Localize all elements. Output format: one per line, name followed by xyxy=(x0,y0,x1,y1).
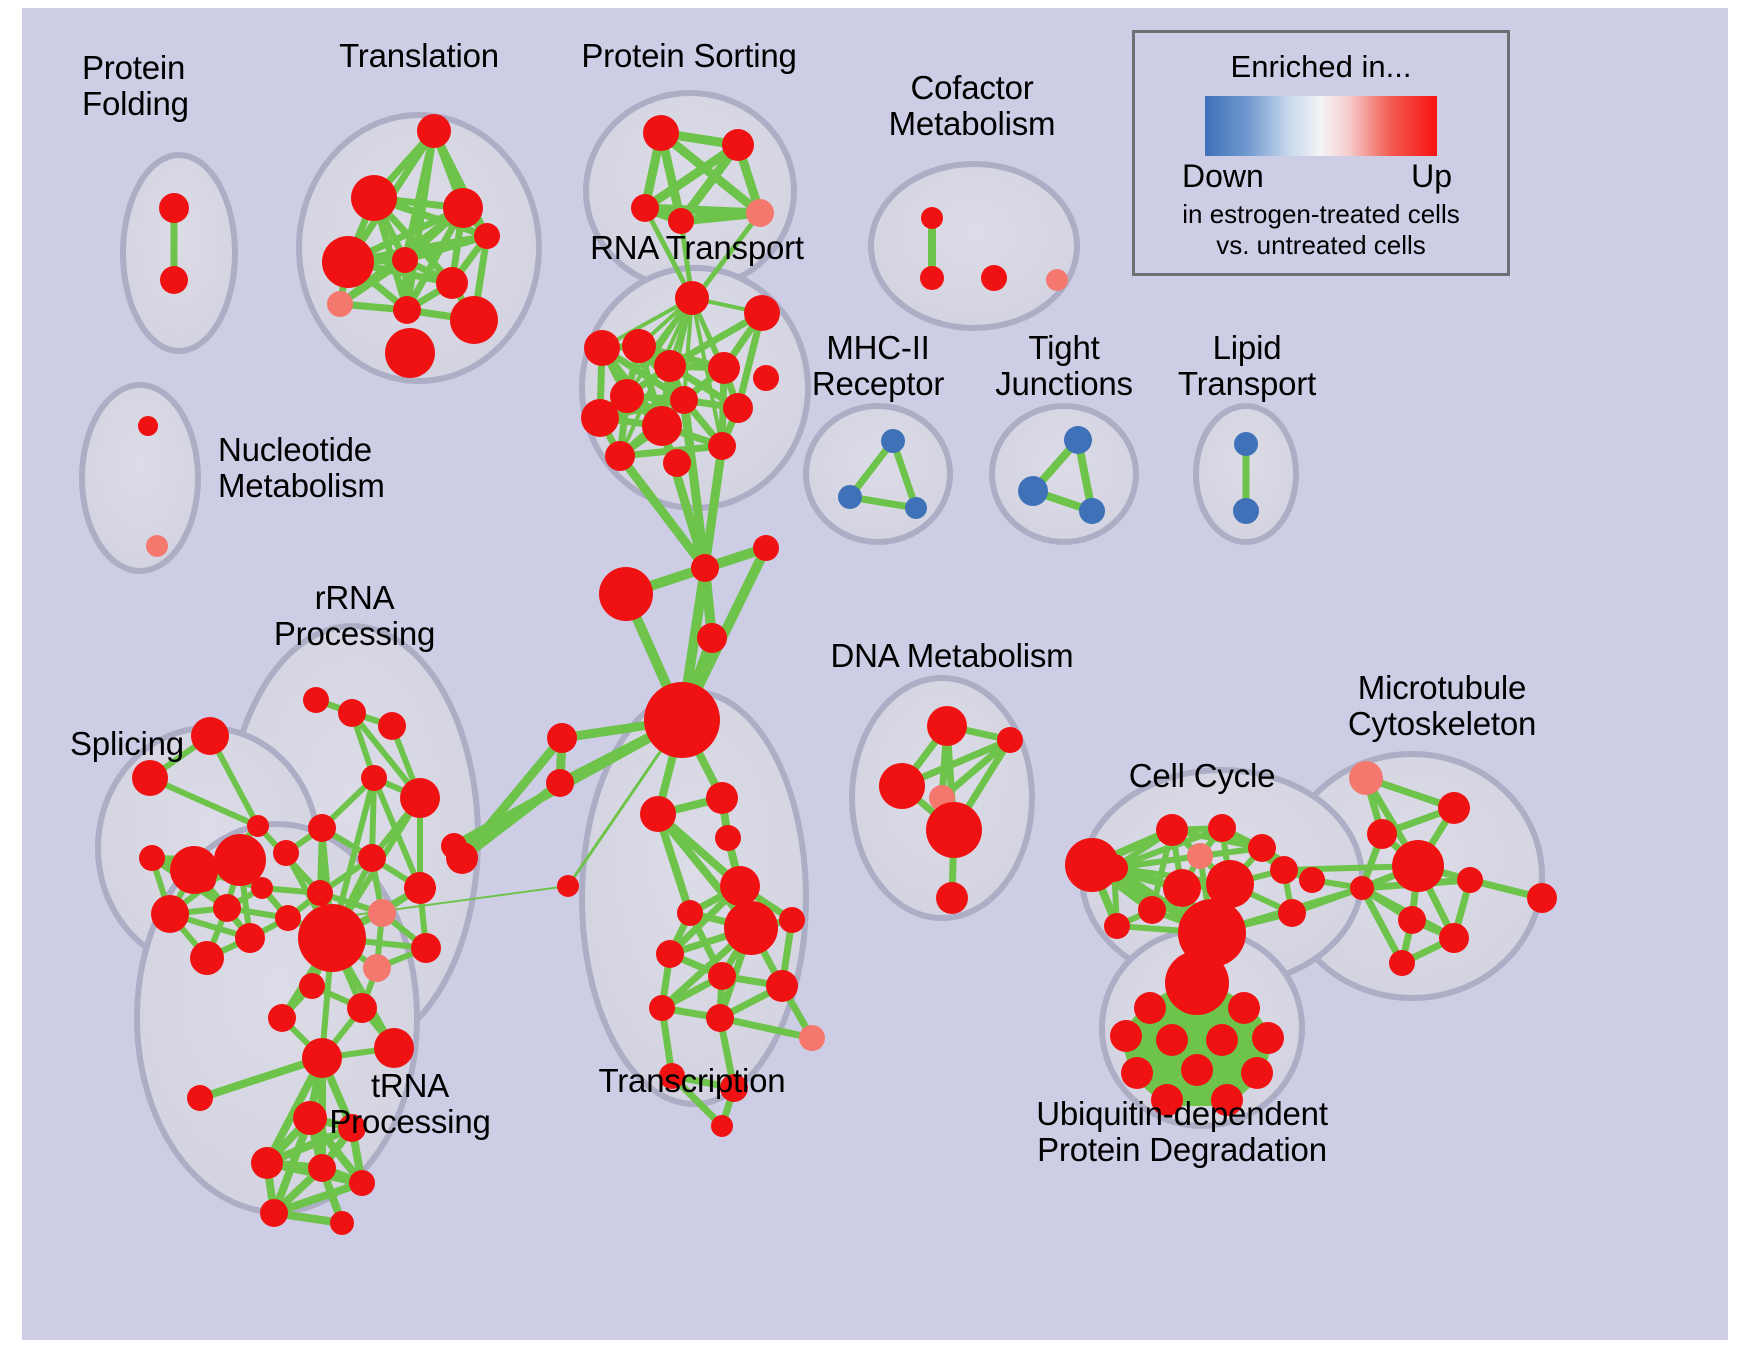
node xyxy=(385,328,435,378)
node xyxy=(1046,269,1068,291)
figure-root: ProteinFolding Translation Protein Sorti… xyxy=(0,0,1750,1360)
node xyxy=(1392,840,1444,892)
node xyxy=(557,875,579,897)
cluster-label-protein-sorting: Protein Sorting xyxy=(509,38,869,74)
node xyxy=(443,188,483,228)
node xyxy=(1104,913,1130,939)
node xyxy=(1367,819,1397,849)
node xyxy=(251,1147,283,1179)
cluster-blob-protein-folding xyxy=(123,155,235,351)
node xyxy=(644,682,720,758)
cluster-blob-cofactor xyxy=(871,164,1077,328)
node xyxy=(643,115,679,151)
node xyxy=(546,769,574,797)
cluster-label-cofactor-metabolism: CofactorMetabolism xyxy=(822,70,1122,141)
node xyxy=(1187,843,1213,869)
legend-color-gradient-bar xyxy=(1205,96,1437,156)
cluster-label-translation: Translation xyxy=(294,38,544,74)
node xyxy=(640,796,676,832)
cluster-label-transcription: Transcription xyxy=(562,1063,822,1099)
node xyxy=(213,894,241,922)
node xyxy=(1110,1020,1142,1052)
node xyxy=(1208,814,1236,842)
node xyxy=(1121,1057,1153,1089)
node xyxy=(374,1028,414,1068)
node xyxy=(631,194,659,222)
node xyxy=(927,706,967,746)
node xyxy=(753,365,779,391)
node xyxy=(1181,1054,1213,1086)
legend-panel: Enriched in... Down Up in estrogen-treat… xyxy=(1132,30,1510,276)
node xyxy=(779,907,805,933)
node xyxy=(642,406,682,446)
node xyxy=(338,699,366,727)
node xyxy=(1457,867,1483,893)
node xyxy=(605,441,635,471)
node xyxy=(260,1199,288,1227)
node xyxy=(1165,951,1229,1015)
node xyxy=(921,207,943,229)
node xyxy=(268,1004,296,1032)
node xyxy=(663,449,691,477)
cluster-label-cell-cycle: Cell Cycle xyxy=(1102,758,1302,794)
node xyxy=(584,330,620,366)
node xyxy=(378,712,406,740)
cluster-label-dna-metabolism: DNA Metabolism xyxy=(812,638,1092,674)
node xyxy=(1252,1022,1284,1054)
node xyxy=(936,882,968,914)
node xyxy=(192,868,216,892)
node xyxy=(879,763,925,809)
network-canvas: ProteinFolding Translation Protein Sorti… xyxy=(22,8,1728,1340)
node xyxy=(881,429,905,453)
node xyxy=(1134,992,1166,1024)
node xyxy=(753,535,779,561)
node xyxy=(139,845,165,871)
node xyxy=(400,778,440,818)
node xyxy=(190,941,224,975)
node xyxy=(720,866,760,906)
node xyxy=(138,416,158,436)
node xyxy=(547,723,577,753)
node xyxy=(1398,906,1426,934)
node xyxy=(838,485,862,509)
node xyxy=(649,995,675,1021)
node xyxy=(997,727,1023,753)
node xyxy=(656,940,684,968)
cluster-label-nucleotide-metabolism: NucleotideMetabolism xyxy=(218,432,385,503)
node xyxy=(361,765,387,791)
node xyxy=(191,717,229,755)
node xyxy=(404,872,436,904)
node xyxy=(159,193,189,223)
node xyxy=(308,1154,336,1182)
node xyxy=(436,267,468,299)
node xyxy=(1241,1057,1273,1089)
node xyxy=(920,266,944,290)
cluster-label-ubiquitin: Ubiquitin-dependentProtein Degradation xyxy=(982,1096,1382,1167)
node xyxy=(160,266,188,294)
node xyxy=(675,281,709,315)
node xyxy=(450,296,498,344)
node xyxy=(411,933,441,963)
node xyxy=(722,129,754,161)
cluster-label-protein-folding: ProteinFolding xyxy=(82,50,189,121)
node xyxy=(697,623,727,653)
node xyxy=(1248,834,1276,862)
node xyxy=(1527,883,1557,913)
cluster-label-rna-transport: RNA Transport xyxy=(542,230,852,266)
legend-subtitle-line2: vs. untreated cells xyxy=(1135,231,1507,260)
node xyxy=(746,199,774,227)
node xyxy=(1100,854,1128,882)
legend-subtitle-line1: in estrogen-treated cells xyxy=(1135,200,1507,229)
node xyxy=(1206,1024,1238,1056)
legend-title: Enriched in... xyxy=(1135,49,1507,85)
node xyxy=(1018,476,1048,506)
node xyxy=(599,567,653,621)
node xyxy=(1138,896,1166,924)
node xyxy=(1299,867,1325,893)
node xyxy=(622,329,656,363)
node xyxy=(275,905,301,931)
node xyxy=(708,962,736,990)
node xyxy=(1270,856,1298,884)
node xyxy=(299,973,325,999)
node xyxy=(327,291,353,317)
node xyxy=(247,815,269,837)
node xyxy=(724,901,778,955)
node xyxy=(1389,950,1415,976)
node xyxy=(1439,923,1469,953)
node xyxy=(1156,814,1188,846)
node xyxy=(417,114,451,148)
node xyxy=(581,399,619,437)
cluster-blob-mhc xyxy=(806,406,950,542)
node xyxy=(368,899,396,927)
node xyxy=(677,900,703,926)
node xyxy=(706,1004,734,1032)
cluster-blob-tight-junctions xyxy=(992,406,1136,542)
node xyxy=(670,386,698,414)
node xyxy=(708,352,740,384)
legend-up-label: Up xyxy=(1411,158,1452,195)
cluster-label-tight-junctions: TightJunctions xyxy=(964,330,1164,401)
node xyxy=(1349,761,1383,795)
cluster-label-microtubule: MicrotubuleCytoskeleton xyxy=(1292,670,1592,741)
cluster-label-lipid-transport: LipidTransport xyxy=(1152,330,1342,401)
node xyxy=(1064,426,1092,454)
node xyxy=(1079,498,1105,524)
node xyxy=(981,265,1007,291)
node xyxy=(349,1170,375,1196)
node xyxy=(706,782,738,814)
node xyxy=(363,954,391,982)
node xyxy=(235,923,265,953)
cluster-label-splicing: Splicing xyxy=(70,726,184,762)
node xyxy=(1278,899,1306,927)
node xyxy=(708,432,736,460)
node xyxy=(273,840,299,866)
cluster-label-trna-processing: tRNAProcessing xyxy=(300,1068,520,1139)
node xyxy=(1350,876,1374,900)
node xyxy=(474,223,500,249)
node xyxy=(251,877,273,899)
node xyxy=(351,175,397,221)
node xyxy=(146,535,168,557)
node xyxy=(322,236,374,288)
node xyxy=(744,295,780,331)
node xyxy=(691,554,719,582)
node xyxy=(393,296,421,324)
node xyxy=(799,1025,825,1051)
node xyxy=(441,833,467,859)
node xyxy=(715,825,741,851)
node xyxy=(711,1115,733,1137)
node xyxy=(1438,792,1470,824)
cluster-label-mhc-ii-receptor: MHC-IIReceptor xyxy=(778,330,978,401)
node xyxy=(132,760,168,796)
node xyxy=(1163,869,1201,907)
node xyxy=(905,497,927,519)
node xyxy=(330,1211,354,1235)
node xyxy=(1234,432,1258,456)
node xyxy=(308,814,336,842)
node xyxy=(187,1085,213,1111)
node xyxy=(307,880,333,906)
node xyxy=(151,895,189,933)
node xyxy=(1156,1024,1188,1056)
node xyxy=(1233,498,1259,524)
node xyxy=(347,993,377,1023)
node xyxy=(766,970,798,1002)
node xyxy=(303,687,329,713)
legend-endpoint-labels: Down Up xyxy=(1180,158,1462,198)
node xyxy=(723,393,753,423)
node xyxy=(926,802,982,858)
node xyxy=(298,904,366,972)
cluster-blob-nucleotide xyxy=(82,385,198,571)
node xyxy=(1228,992,1260,1024)
cluster-label-rrna-processing: rRNAProcessing xyxy=(237,580,472,651)
node xyxy=(358,844,386,872)
node xyxy=(654,350,686,382)
node xyxy=(392,247,418,273)
legend-down-label: Down xyxy=(1182,158,1264,195)
